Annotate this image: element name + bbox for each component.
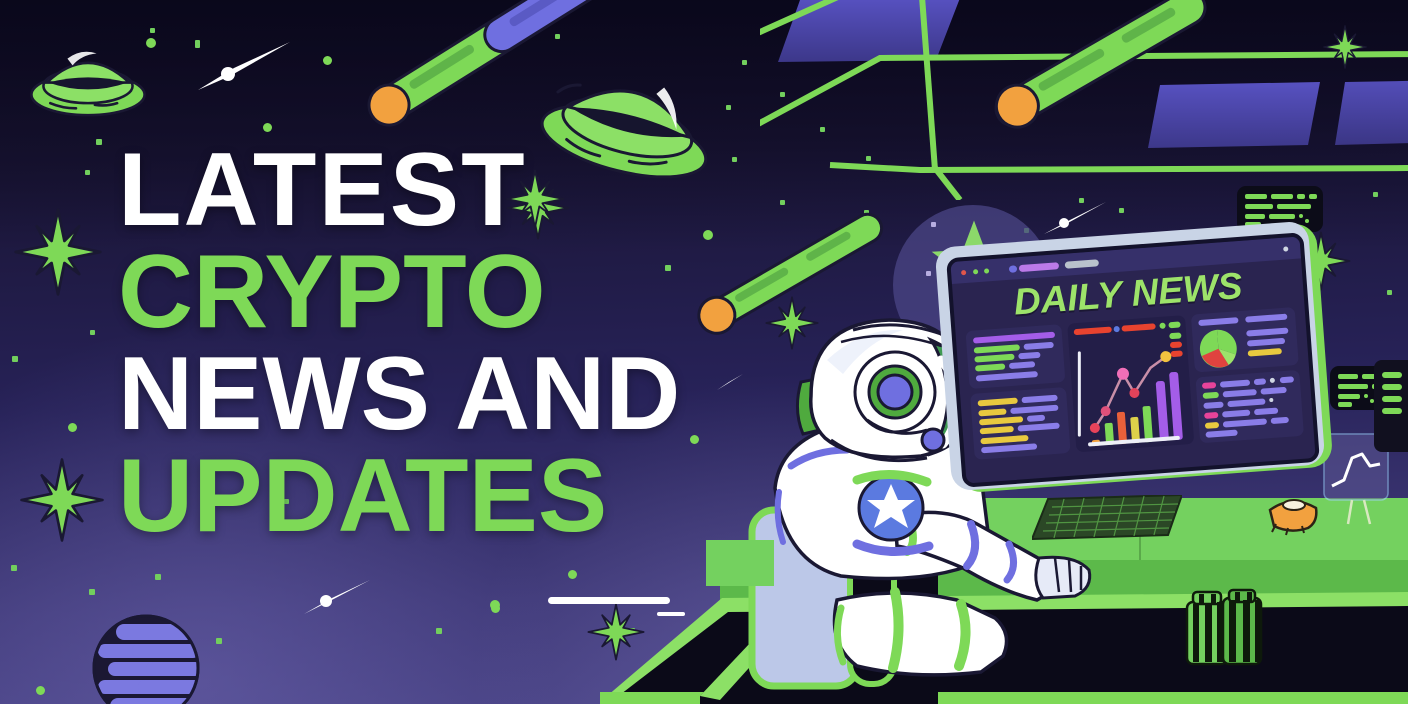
- monitor[interactable]: DAILY NEWS: [955, 240, 1355, 500]
- star: [1119, 208, 1124, 213]
- star: [732, 157, 737, 162]
- article-panel-right-bottom[interactable]: [1195, 370, 1304, 443]
- star: [491, 604, 500, 613]
- star: [436, 628, 442, 634]
- wall-vent-light: [1382, 408, 1402, 414]
- star: [931, 222, 936, 227]
- browser-tab[interactable]: [1019, 262, 1059, 272]
- pie-panel[interactable]: [1191, 307, 1299, 372]
- star: [11, 565, 17, 571]
- star: [1373, 192, 1378, 197]
- page-title: LATEST CRYPTO NEWS AND UPDATES: [118, 140, 718, 548]
- wall-vent-light: [1382, 384, 1402, 390]
- star: [866, 156, 871, 161]
- article-panel-left-bottom[interactable]: [970, 387, 1071, 460]
- star: [85, 170, 90, 175]
- browser-dot-menu[interactable]: [1283, 246, 1288, 251]
- sparkle-icon: [1322, 24, 1368, 70]
- shooting-star-icon: [715, 372, 745, 394]
- shooting-star-icon: [190, 40, 300, 100]
- article-panel-left-top[interactable]: [965, 324, 1065, 389]
- headline-line-4: UPDATES: [118, 446, 718, 548]
- star: [36, 686, 45, 695]
- browser-dot-max[interactable]: [984, 268, 989, 273]
- star: [780, 92, 785, 97]
- star: [89, 589, 95, 595]
- line-chart: [1068, 329, 1194, 452]
- ufo-left-icon: [28, 32, 148, 128]
- star: [12, 356, 18, 362]
- star: [1387, 290, 1392, 295]
- browser-tab[interactable]: [1065, 259, 1099, 268]
- sparkle-icon: [12, 206, 104, 298]
- monitor-screen[interactable]: DAILY NEWS: [946, 232, 1320, 488]
- pie-chart: [1196, 326, 1241, 371]
- headline-line-3: NEWS AND: [118, 344, 718, 446]
- star: [150, 28, 155, 33]
- star: [68, 423, 77, 432]
- headline-line-1: LATEST: [118, 140, 718, 242]
- star: [263, 123, 272, 132]
- star: [568, 570, 577, 579]
- canisters: [1183, 588, 1265, 666]
- star: [155, 574, 161, 580]
- banner-illustration: DAILY NEWS: [0, 0, 1408, 704]
- wall-vent-light: [1382, 396, 1402, 402]
- planet-striped-icon: [92, 614, 200, 704]
- headline-line-2: CRYPTO: [118, 242, 718, 344]
- star: [742, 60, 747, 65]
- browser-dot-close[interactable]: [961, 270, 966, 275]
- star: [726, 105, 731, 110]
- browser-tab[interactable]: [1009, 265, 1017, 273]
- star: [216, 638, 222, 644]
- star: [90, 330, 95, 335]
- sparkle-icon: [18, 456, 106, 544]
- star: [96, 139, 102, 145]
- comet-top-center-icon: [960, 0, 1260, 160]
- comet-top-left-icon: [325, 0, 665, 140]
- wall-vent-light: [1382, 372, 1402, 378]
- chart-panel[interactable]: [1067, 315, 1194, 452]
- shooting-star-icon: [300, 578, 374, 622]
- browser-dot-min[interactable]: [973, 269, 978, 274]
- star: [820, 127, 825, 132]
